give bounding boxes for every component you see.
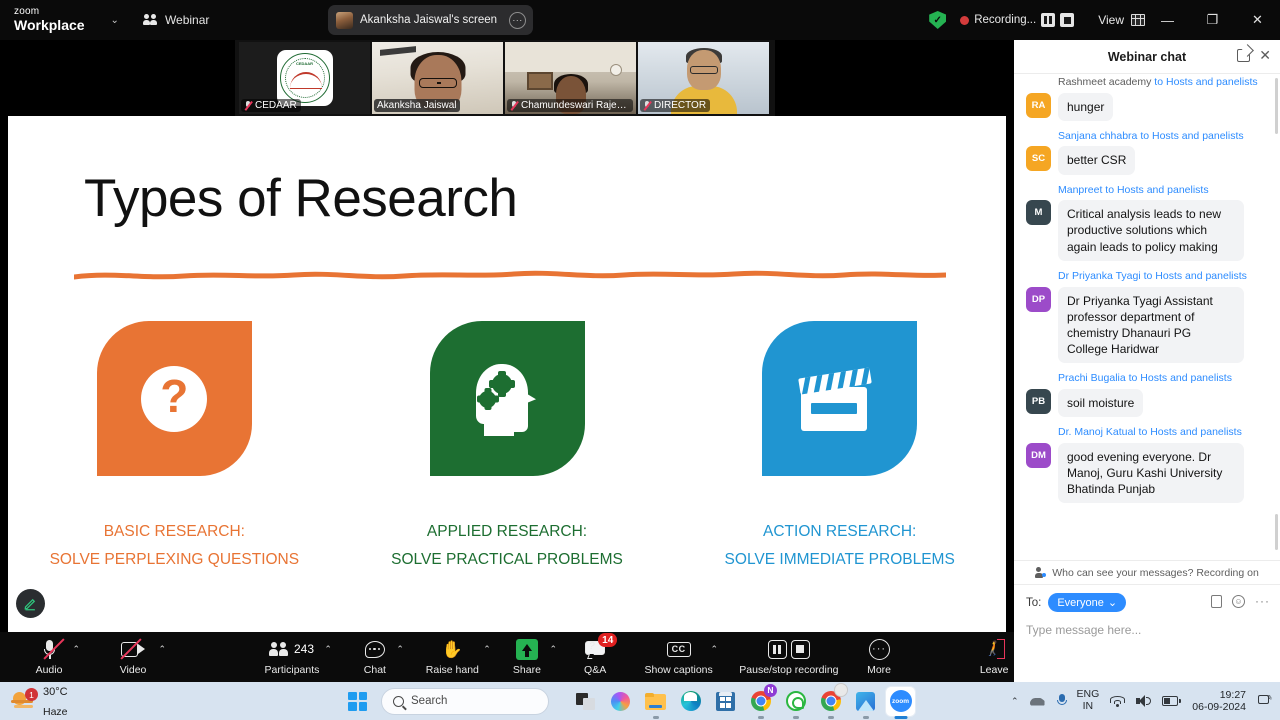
file-explorer-icon[interactable] <box>641 687 670 716</box>
share-title: Akanksha Jaiswal's screen <box>360 14 497 26</box>
recipient-value: Everyone <box>1057 597 1103 609</box>
window-minimize-button[interactable]: — <box>1145 0 1190 40</box>
screen-share-indicator[interactable]: Akanksha Jaiswal's screen ··· <box>328 5 533 35</box>
system-tray: ⌃ ENG IN 19:27 06-09-2024 ✎ <box>1011 682 1272 720</box>
weather-widget[interactable]: 1 30°C Haze <box>10 681 68 720</box>
camera-off-icon <box>121 638 145 660</box>
participants-icon <box>270 642 289 657</box>
video-thumbnail-strip: CEDAAR CEDAAR Akanksha Jaiswal Chamundes… <box>235 40 775 116</box>
search-placeholder: Search <box>411 695 447 707</box>
card-title: ACTION RESEARCH: <box>763 523 916 540</box>
avatar: DM <box>1026 443 1051 468</box>
message-sender: Rashmeet academy <box>1058 76 1151 88</box>
tile-namebar: CEDAAR <box>241 99 301 112</box>
view-label: View <box>1098 13 1124 27</box>
search-icon <box>393 696 404 707</box>
muted-microphone-icon <box>510 101 518 111</box>
notion-badge: N <box>764 684 777 697</box>
qa-button[interactable]: ? 14 Q&A <box>577 632 613 682</box>
microsoft-store-icon[interactable] <box>711 687 740 716</box>
captions-caret[interactable]: ⌃ <box>710 644 718 655</box>
leave-icon: 🚶 <box>983 638 1005 660</box>
chat-message: Sanjana chhabra to Hosts and panelists S… <box>1026 130 1268 175</box>
titlebar-right-controls: ✓ Recording... View — ❐ ✕ <box>929 0 1280 40</box>
chat-message-list[interactable]: Rashmeet academy to Hosts and panelists … <box>1014 74 1280 560</box>
microphone-muted-icon <box>44 638 54 660</box>
popout-chat-icon[interactable] <box>1237 49 1250 62</box>
zoom-title-bar: zoom Workplace ⌄ Webinar Akanksha Jaiswa… <box>0 0 1280 40</box>
card-title: APPLIED RESEARCH: <box>427 523 587 540</box>
edge-browser-icon[interactable] <box>676 687 705 716</box>
clock-time: 19:27 <box>1220 689 1246 701</box>
share-more-icon[interactable]: ··· <box>509 12 526 29</box>
message-recipient: to Hosts and panelists <box>1137 130 1243 142</box>
chat-button[interactable]: Chat ⌃ <box>356 632 394 682</box>
qa-badge: 14 <box>598 633 617 647</box>
language-line-1: ENG <box>1077 688 1100 700</box>
chat-privacy-notice[interactable]: Who can see your messages? Recording on <box>1014 560 1280 584</box>
chat-message: Prachi Bugalia to Hosts and panelists PB… <box>1026 372 1268 417</box>
chat-message: Manpreet to Hosts and panelists M Critic… <box>1026 184 1268 261</box>
closed-captions-icon: CC <box>667 638 691 660</box>
more-icon: ··· <box>869 638 890 660</box>
zoom-app-icon[interactable]: zoom <box>886 687 915 716</box>
chat-message: Dr. Manoj Katual to Hosts and panelists … <box>1026 426 1268 503</box>
avatar: M <box>1026 200 1051 225</box>
taskbar-apps: N zoom <box>571 687 915 716</box>
language-line-2: IN <box>1083 700 1094 712</box>
chat-caret[interactable]: ⌃ <box>396 644 404 655</box>
raise-hand-button[interactable]: ✋ Raise hand ⌃ <box>424 632 481 682</box>
avatar: RA <box>1026 93 1051 118</box>
muted-microphone-icon <box>244 101 252 111</box>
card-label: ACTION RESEARCH: SOLVE IMMEDIATE PROBLEM… <box>725 518 955 573</box>
attach-file-icon[interactable] <box>1211 595 1222 608</box>
weather-text: 30°C Haze <box>43 681 68 720</box>
show-captions-button[interactable]: CC Show captions ⌃ <box>643 632 714 682</box>
taskbar-center: Search N zoom <box>348 682 915 720</box>
avatar: DP <box>1026 287 1051 312</box>
leave-button[interactable]: 🚶 Leave <box>974 632 1014 682</box>
stop-icon[interactable] <box>791 640 810 659</box>
qa-icon: ? 14 <box>585 638 605 660</box>
notice-text: Who can see your messages? Recording on <box>1052 567 1259 579</box>
message-recipient: to Hosts and panelists <box>1126 372 1232 384</box>
card-title: BASIC RESEARCH: <box>104 523 245 540</box>
raise-hand-icon: ✋ <box>442 638 463 660</box>
share-label: Share <box>513 664 541 676</box>
recording-label: Pause/stop recording <box>739 664 838 676</box>
research-type-cards: ? BASIC RESEARCH: SOLVE PERPLEXING QUEST… <box>8 321 1006 573</box>
clock[interactable]: 19:27 06-09-2024 <box>1192 689 1246 713</box>
pen-menu-icon[interactable] <box>1030 696 1046 707</box>
wifi-icon[interactable] <box>1110 695 1125 707</box>
audio-button[interactable]: Audio ⌃ <box>24 632 74 682</box>
tray-expand-icon[interactable]: ⌃ <box>1011 696 1019 707</box>
weather-condition: Haze <box>43 706 68 718</box>
battery-icon[interactable] <box>1162 695 1181 707</box>
zoom-workplace-logo: zoom Workplace <box>14 7 85 32</box>
video-button[interactable]: Video ⌃ <box>108 632 158 682</box>
card-subtitle: SOLVE PERPLEXING QUESTIONS <box>50 546 300 574</box>
message-sender: Dr Priyanka Tyagi <box>1058 270 1141 282</box>
chat-label: Chat <box>364 664 386 676</box>
video-tile-director[interactable]: DIRECTOR <box>638 42 769 114</box>
share-screen-button[interactable]: Share ⌃ <box>509 632 545 682</box>
whatsapp-icon[interactable] <box>781 687 810 716</box>
more-label: More <box>867 664 891 676</box>
chrome-notion-icon[interactable]: N <box>746 687 775 716</box>
chat-scrollbar[interactable] <box>1275 514 1278 550</box>
annotate-button[interactable] <box>16 589 45 618</box>
message-sender: Prachi Bugalia <box>1058 372 1126 384</box>
haze-weather-icon: 1 <box>10 690 36 712</box>
card-label: APPLIED RESEARCH: SOLVE PRACTICAL PROBLE… <box>391 518 623 573</box>
card-icon-tile <box>762 321 917 476</box>
message-meta: Dr. Manoj Katual to Hosts and panelists <box>1058 426 1268 440</box>
pause-stop-recording-button[interactable]: Pause/stop recording <box>738 632 840 682</box>
message-meta: Rashmeet academy to Hosts and panelists <box>1058 76 1268 90</box>
message-sender: Manpreet <box>1058 184 1102 196</box>
tile-namebar: Akanksha Jaiswal <box>374 99 460 112</box>
chat-composer: To: Everyone ⌄ ☺ ··· Type message here..… <box>1014 584 1280 681</box>
video-tile-akanksha-jaiswal[interactable]: Akanksha Jaiswal <box>372 42 503 114</box>
video-tile-chamundeswari[interactable]: Chamundeswari Rajen... <box>505 42 636 114</box>
video-options-caret[interactable]: ⌃ <box>159 644 167 655</box>
chrome-profile-badge <box>834 683 848 697</box>
message-meta: Sanjana chhabra to Hosts and panelists <box>1058 130 1268 144</box>
message-recipient: to Hosts and panelists <box>1102 184 1208 196</box>
notification-badge: 1 <box>25 688 38 701</box>
security-shield-icon[interactable]: ✓ <box>929 11 946 29</box>
participant-name: DIRECTOR <box>654 100 706 111</box>
composer-more-icon[interactable]: ··· <box>1255 594 1270 608</box>
participants-count: 243 <box>294 642 314 656</box>
window-close-button[interactable]: ✕ <box>1235 0 1280 40</box>
webinar-mode-button[interactable]: Webinar <box>143 13 209 27</box>
seal-text: CEDAAR <box>281 61 329 66</box>
windows-taskbar: 1 30°C Haze Search N <box>0 682 1280 720</box>
microphone-tray-icon[interactable] <box>1057 694 1066 708</box>
chat-bubble-icon <box>365 638 385 660</box>
captions-label: Show captions <box>644 664 712 676</box>
chevron-down-icon[interactable]: ⌄ <box>111 15 119 26</box>
tile-namebar: Chamundeswari Rajen... <box>507 99 633 112</box>
participants-caret[interactable]: ⌃ <box>324 644 332 655</box>
chat-panel-header: Webinar chat ✕ <box>1014 40 1280 74</box>
participant-name: Chamundeswari Rajen... <box>521 100 629 111</box>
tile-namebar: DIRECTOR <box>640 99 710 112</box>
message-input[interactable]: Type message here... <box>1026 623 1268 637</box>
message-bubble: soil moisture <box>1058 389 1143 417</box>
message-bubble: Dr Priyanka Tyagi Assistant professor de… <box>1058 287 1244 364</box>
qa-label: Q&A <box>584 664 606 676</box>
message-meta: Manpreet to Hosts and panelists <box>1058 184 1268 198</box>
copilot-icon[interactable] <box>606 687 635 716</box>
message-sender: Sanjana chhabra <box>1058 130 1137 142</box>
share-caret[interactable]: ⌃ <box>549 644 557 655</box>
to-label: To: <box>1026 597 1041 609</box>
pause-recording-button[interactable] <box>1041 13 1055 27</box>
audio-label: Audio <box>36 664 63 676</box>
clock-date: 06-09-2024 <box>1192 701 1246 713</box>
avatar: SC <box>1026 146 1051 171</box>
message-meta: Dr Priyanka Tyagi to Hosts and panelists <box>1058 270 1268 284</box>
task-view-icon[interactable] <box>571 687 600 716</box>
pause-icon[interactable] <box>768 640 787 659</box>
stop-recording-button[interactable] <box>1060 13 1074 27</box>
webinar-chat-panel: Webinar chat ✕ Rashmeet academy to Hosts… <box>1014 40 1280 682</box>
card-basic-research: ? BASIC RESEARCH: SOLVE PERPLEXING QUEST… <box>8 321 341 573</box>
recording-indicator: Recording... <box>960 13 1074 27</box>
chat-recipient-row: To: Everyone ⌄ ☺ ··· <box>1026 593 1268 612</box>
view-layout-icon <box>1131 14 1145 26</box>
shared-screen-stage: Types of Research ? BASIC RESEARCH: SOLV… <box>0 116 1014 632</box>
message-bubble: good evening everyone. Dr Manoj, Guru Ka… <box>1058 443 1244 504</box>
clapperboard-icon <box>797 365 883 433</box>
muted-microphone-icon <box>643 101 651 111</box>
card-applied-research: APPLIED RESEARCH: SOLVE PRACTICAL PROBLE… <box>341 321 674 573</box>
share-screen-icon <box>516 638 538 660</box>
leave-label: Leave <box>980 664 1009 676</box>
cedaar-logo: CEDAAR <box>277 50 333 106</box>
taskbar-search[interactable]: Search <box>381 688 549 715</box>
message-recipient: to Hosts and panelists <box>1141 270 1247 282</box>
webinar-label: Webinar <box>165 13 209 27</box>
chrome-browser-icon[interactable] <box>816 687 845 716</box>
participant-name: CEDAAR <box>255 100 297 111</box>
privacy-person-icon <box>1035 567 1047 578</box>
slide-title: Types of Research <box>84 168 517 229</box>
composer-actions: ☺ ··· <box>1211 594 1270 608</box>
question-mark-icon: ? <box>141 366 207 432</box>
message-recipient: to Hosts and panelists <box>1136 426 1242 438</box>
more-options-button[interactable]: ··· More <box>862 632 897 682</box>
window-maximize-button[interactable]: ❐ <box>1190 0 1235 40</box>
brand-line-2: Workplace <box>14 18 85 33</box>
recording-dot-icon <box>960 16 969 25</box>
recording-controls-icon <box>768 638 810 660</box>
chat-title: Webinar chat <box>1108 50 1186 64</box>
language-indicator[interactable]: ENG IN <box>1077 689 1100 712</box>
title-underline-wave <box>74 268 946 282</box>
message-sender: Dr. Manoj Katual <box>1058 426 1136 438</box>
weather-temperature: 30°C <box>43 686 68 698</box>
message-bubble: hunger <box>1058 93 1113 121</box>
presenter-avatar <box>336 12 353 29</box>
recording-label: Recording... <box>974 14 1036 26</box>
start-button-icon[interactable] <box>348 692 367 711</box>
view-button[interactable]: View <box>1098 13 1145 27</box>
card-subtitle: SOLVE IMMEDIATE PROBLEMS <box>725 546 955 574</box>
message-meta: Prachi Bugalia to Hosts and panelists <box>1058 372 1268 386</box>
head-with-gears-icon <box>468 360 546 438</box>
chat-scrollbar-top[interactable] <box>1275 78 1278 134</box>
participants-button[interactable]: 243 Participants ⌃ <box>260 632 324 682</box>
card-action-research: ACTION RESEARCH: SOLVE IMMEDIATE PROBLEM… <box>673 321 1006 573</box>
message-bubble: better CSR <box>1058 146 1135 174</box>
emoji-icon[interactable]: ☺ <box>1232 595 1245 608</box>
message-recipient: to Hosts and panelists <box>1151 76 1257 88</box>
card-icon-tile <box>430 321 585 476</box>
pencil-icon <box>23 596 38 611</box>
participant-name: Akanksha Jaiswal <box>377 100 456 111</box>
message-bubble: Critical analysis leads to new productiv… <box>1058 200 1244 261</box>
raise-hand-label: Raise hand <box>426 664 479 676</box>
people-icon <box>143 14 158 27</box>
audio-options-caret[interactable]: ⌃ <box>72 644 80 655</box>
card-icon-tile: ? <box>97 321 252 476</box>
notifications-icon[interactable]: ✎ <box>1257 694 1272 708</box>
close-chat-icon[interactable]: ✕ <box>1259 47 1271 64</box>
presentation-slide: Types of Research ? BASIC RESEARCH: SOLV… <box>8 116 1006 632</box>
recipient-dropdown[interactable]: Everyone ⌄ <box>1048 593 1126 612</box>
photos-icon[interactable] <box>851 687 880 716</box>
chat-message: Rashmeet academy to Hosts and panelists … <box>1026 76 1268 121</box>
participants-icon-row: 243 <box>270 638 314 660</box>
chevron-down-icon: ⌄ <box>1108 596 1117 609</box>
video-tile-cedaar[interactable]: CEDAAR CEDAAR <box>239 42 370 114</box>
chat-message: Dr Priyanka Tyagi to Hosts and panelists… <box>1026 270 1268 363</box>
card-label: BASIC RESEARCH: SOLVE PERPLEXING QUESTIO… <box>50 518 300 573</box>
zoom-meeting-toolbar: Audio ⌃ Video ⌃ 243 Participants ⌃ Chat … <box>0 632 1014 682</box>
zoom-logo-label: zoom <box>890 690 912 712</box>
card-subtitle: SOLVE PRACTICAL PROBLEMS <box>391 546 623 574</box>
speaker-icon[interactable] <box>1136 695 1151 707</box>
video-label: Video <box>120 664 147 676</box>
avatar: PB <box>1026 389 1051 414</box>
participants-label: Participants <box>265 664 320 676</box>
raise-hand-caret[interactable]: ⌃ <box>483 644 491 655</box>
